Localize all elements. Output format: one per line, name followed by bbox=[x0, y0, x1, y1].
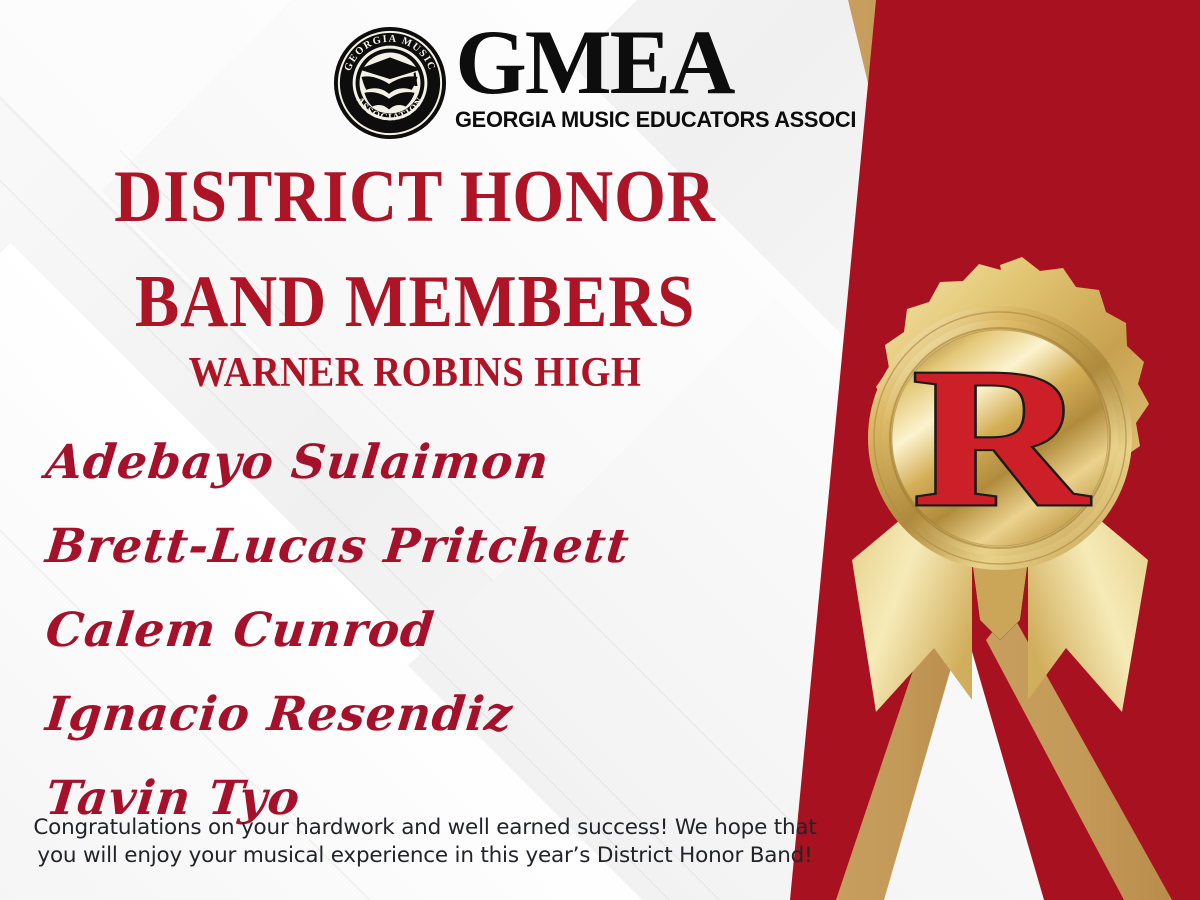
school-name: WARNER ROBINS HIGH bbox=[33, 352, 797, 394]
page-title-line-2: BAND MEMBERS bbox=[42, 265, 789, 339]
gmea-acronym: GMEA bbox=[455, 20, 733, 105]
badge-letter: R bbox=[912, 328, 1090, 549]
school-name-wrap: WARNER ROBINS HIGH bbox=[0, 352, 830, 394]
svg-text:R: R bbox=[912, 328, 1090, 549]
gmea-header: GEORGIA MUSIC ASSOCIATION GMEA GEORGIA M… bbox=[0, 20, 1200, 142]
title-line-2-wrap: BAND MEMBERS bbox=[0, 265, 830, 339]
congratulations-message: Congratulations on your hardwork and wel… bbox=[30, 814, 820, 871]
page-title-line-1: DISTRICT HONOR bbox=[42, 160, 789, 234]
gmea-full-name: GEORGIA MUSIC EDUCATORS ASSOCI bbox=[455, 107, 856, 133]
gmea-wordmark: GMEA GEORGIA MUSIC EDUCATORS ASSOCI bbox=[455, 20, 869, 133]
member-name-list: Adebayo Sulaimon Brett-Lucas Pritchett C… bbox=[46, 420, 806, 840]
list-item: Ignacio Resendiz bbox=[42, 672, 811, 756]
list-item: Adebayo Sulaimon bbox=[42, 420, 811, 504]
list-item: Brett-Lucas Pritchett bbox=[42, 504, 811, 588]
title-line-1-wrap: DISTRICT HONOR bbox=[0, 160, 830, 234]
gmea-seal-icon: GEORGIA MUSIC ASSOCIATION bbox=[331, 24, 449, 142]
honor-band-poster: R GEORGIA MUSIC bbox=[0, 0, 1200, 900]
list-item: Calem Cunrod bbox=[42, 588, 811, 672]
